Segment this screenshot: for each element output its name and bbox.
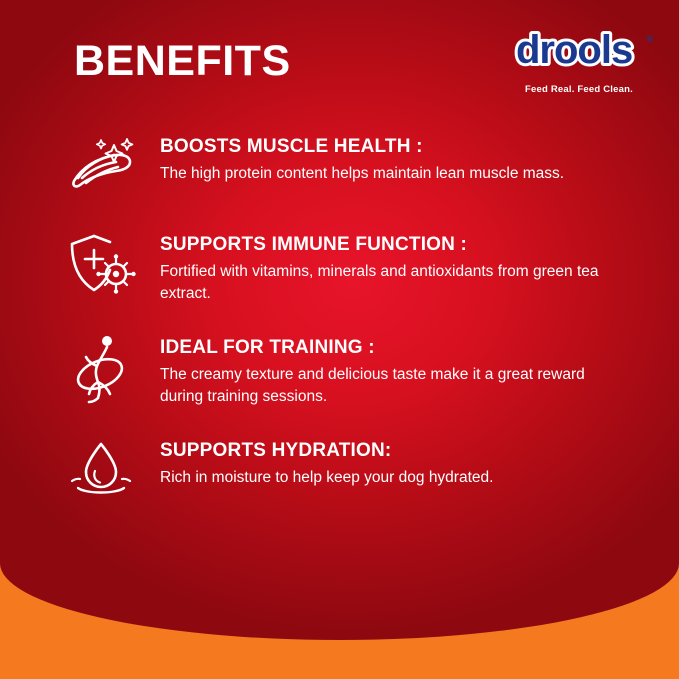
benefits-poster: BENEFITS drools ® Feed Real. Feed Clean. <box>0 0 679 679</box>
page-title: BENEFITS <box>74 40 291 83</box>
benefit-heading: BOOSTS MUSCLE HEALTH : <box>160 136 564 158</box>
registered-trademark-icon: ® <box>646 34 653 44</box>
benefit-item-training: IDEAL FOR TRAINING : The creamy texture … <box>62 331 632 408</box>
dog-jumping-hoop-icon <box>62 331 140 403</box>
benefit-body: The high protein content helps maintain … <box>160 163 564 185</box>
benefit-heading: IDEAL FOR TRAINING : <box>160 337 630 359</box>
benefit-text-immune: SUPPORTS IMMUNE FUNCTION : Fortified wit… <box>140 228 630 305</box>
benefit-body: The creamy texture and delicious taste m… <box>160 364 630 408</box>
water-droplet-icon <box>62 434 140 506</box>
benefit-heading: SUPPORTS IMMUNE FUNCTION : <box>160 234 630 256</box>
benefits-list: BOOSTS MUSCLE HEALTH : The high protein … <box>62 128 632 532</box>
benefit-text-hydration: SUPPORTS HYDRATION: Rich in moisture to … <box>140 434 493 489</box>
benefit-item-immune: SUPPORTS IMMUNE FUNCTION : Fortified wit… <box>62 228 632 305</box>
muscle-icon <box>62 130 140 202</box>
benefit-text-muscle: BOOSTS MUSCLE HEALTH : The high protein … <box>140 130 564 185</box>
water-droplet-icon-glyph <box>64 438 138 502</box>
svg-text:drools: drools <box>516 28 632 72</box>
benefit-item-hydration: SUPPORTS HYDRATION: Rich in moisture to … <box>62 434 632 506</box>
benefit-item-muscle: BOOSTS MUSCLE HEALTH : The high protein … <box>62 130 632 202</box>
logo-wordmark: drools ® <box>514 28 644 79</box>
logo-tagline: Feed Real. Feed Clean. <box>511 84 647 95</box>
muscle-icon-glyph <box>64 134 138 198</box>
benefit-body: Rich in moisture to help keep your dog h… <box>160 467 493 489</box>
brand-logo: drools ® Feed Real. Feed Clean. <box>511 28 647 95</box>
drools-logotype-icon: drools <box>514 28 644 74</box>
dog-jumping-hoop-icon-glyph <box>64 328 138 406</box>
shield-immune-icon-glyph <box>64 230 138 298</box>
benefit-heading: SUPPORTS HYDRATION: <box>160 440 493 462</box>
benefit-text-training: IDEAL FOR TRAINING : The creamy texture … <box>140 331 630 408</box>
benefit-body: Fortified with vitamins, minerals and an… <box>160 261 630 305</box>
shield-immune-icon <box>62 228 140 300</box>
